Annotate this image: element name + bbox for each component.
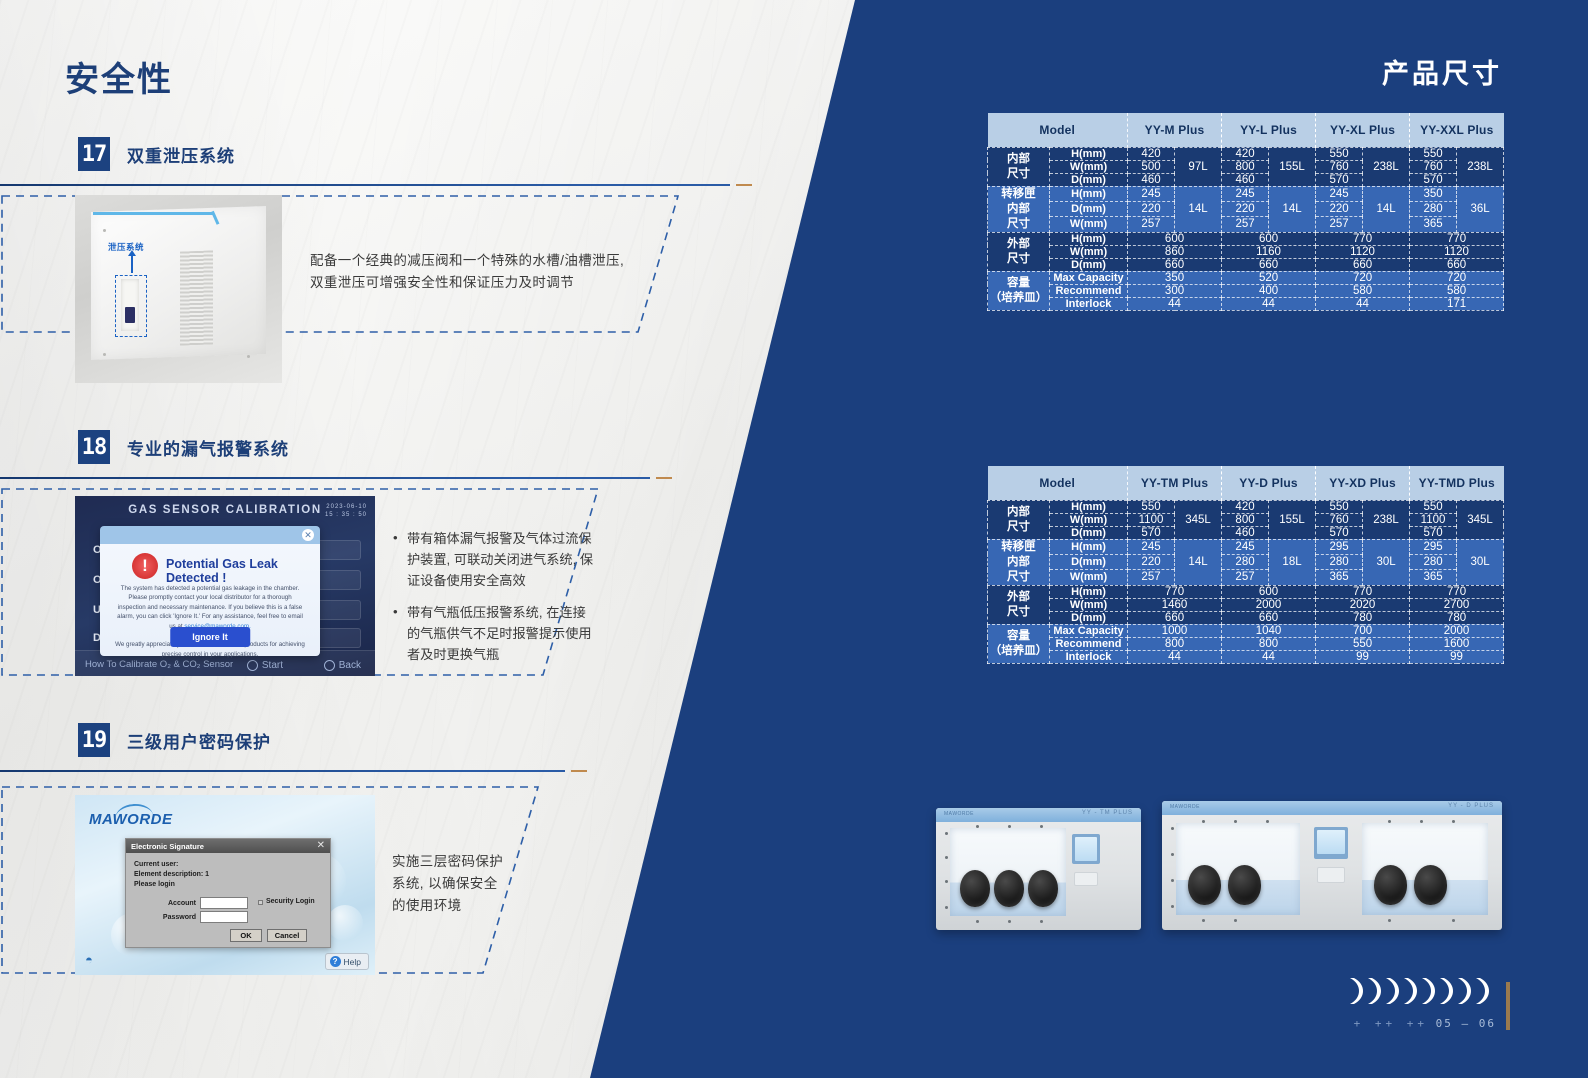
- table-cell-volume: 238L: [1457, 147, 1504, 186]
- screw-icon: [103, 353, 106, 356]
- table-cell-value: 460: [1128, 173, 1175, 186]
- section-18-rule-cap: [656, 477, 672, 479]
- section-17-number: 17: [78, 137, 110, 171]
- screw-icon: [247, 355, 250, 358]
- table-cell-volume: 14L: [1363, 186, 1410, 232]
- table-model-3: YY-XD Plus: [1316, 466, 1410, 500]
- table-cell-value: 600: [1222, 232, 1316, 245]
- table-cell-volume: 345L: [1457, 500, 1504, 539]
- section-17-rule-cap: [736, 184, 752, 186]
- left-column: 安全性 17 双重泄压系统 泄压系统: [0, 0, 860, 1078]
- table-cell-value: 770: [1410, 232, 1504, 245]
- table-cell-value: 220: [1128, 201, 1175, 216]
- section-19-number: 19: [78, 723, 110, 757]
- table-cell-value: 1120: [1316, 245, 1410, 258]
- table-row: 外部尺寸H(mm)600600770770: [988, 232, 1504, 245]
- table-cell-value: 570: [1128, 526, 1175, 539]
- cancel-button[interactable]: Cancel: [267, 929, 307, 942]
- table-cell-value: 280: [1410, 201, 1457, 216]
- table-cell-value: 2020: [1316, 598, 1410, 611]
- section-18-header: 18 专业的漏气报警系统: [0, 430, 860, 476]
- section-19-body-line2: 系统, 以确保安全: [392, 873, 532, 895]
- section-17-body: 配备一个经典的减压阀和一个特殊的水槽/油槽泄压, 双重泄压可增强安全性和保证压力…: [310, 250, 640, 294]
- table-cell-value: 280: [1410, 554, 1457, 569]
- table-sub-label: H(mm): [1050, 500, 1128, 513]
- section-18-bullet-1: 带有箱体漏气报警及气体过流保护装置, 可联动关闭进气系统, 保证设备使用安全高效: [393, 528, 598, 591]
- table-group-label: 转移匣内部尺寸: [988, 539, 1050, 585]
- table-cell-volume: 18L: [1269, 539, 1316, 585]
- table-row: 转移匣内部尺寸H(mm)24514L24518L29530L29530L: [988, 539, 1504, 554]
- gas-sensor-calibration-screen: GAS SENSOR CALIBRATION 2023-06-10 15 : 3…: [75, 496, 375, 676]
- table-cell-value: 660: [1128, 611, 1222, 624]
- table-cell-value: 1100: [1410, 513, 1457, 526]
- table-cell-value: 500: [1128, 160, 1175, 173]
- table-sub-label: D(mm): [1050, 611, 1128, 624]
- section-19-body-line1: 实施三层密码保护: [392, 851, 532, 873]
- table-cell-value: 770: [1316, 585, 1410, 598]
- section-18-rule: [0, 477, 650, 479]
- screen-footer-text: How To Calibrate O₂ & CO₂ Sensor: [85, 659, 233, 670]
- table-cell-volume: 238L: [1363, 500, 1410, 539]
- screen-back-label: Back: [339, 660, 361, 671]
- password-input[interactable]: [200, 911, 248, 923]
- table-cell-volume: 30L: [1363, 539, 1410, 585]
- section-18-bullet-2: 带有气瓶低压报警系统, 在连接的气瓶供气不足时报警提示使用者及时更换气瓶: [393, 602, 598, 665]
- footer-marks: + ++ ++: [1354, 1017, 1428, 1030]
- table-cell-value: 44: [1222, 650, 1316, 663]
- table-cell-value: 350: [1128, 271, 1222, 284]
- table-cell-value: 520: [1222, 271, 1316, 284]
- table-cell-value: 171: [1410, 297, 1504, 310]
- table-sub-label: W(mm): [1050, 513, 1128, 526]
- table-row: D(mm)660660780780: [988, 611, 1504, 624]
- table-cell-volume: 36L: [1457, 186, 1504, 232]
- table-cell-value: 365: [1410, 217, 1457, 232]
- table-model-4: YY-TMD Plus: [1410, 466, 1504, 500]
- table-model-2: YY-L Plus: [1222, 113, 1316, 147]
- product-photo-d-plus: MAWORDE YY - D PLUS: [1162, 801, 1502, 930]
- table-cell-value: 300: [1128, 284, 1222, 297]
- screen-time: 15 : 35 : 50: [325, 511, 367, 519]
- table-cell-value: 760: [1316, 160, 1363, 173]
- table-cell-volume: 155L: [1269, 500, 1316, 539]
- section-17-title: 双重泄压系统: [127, 142, 235, 167]
- table-cell-value: 257: [1222, 570, 1269, 585]
- table-cell-value: 570: [1316, 526, 1363, 539]
- glove-port: [1374, 865, 1407, 905]
- glove-port: [1228, 865, 1261, 905]
- table-model-header: Model: [988, 113, 1128, 147]
- section-18-number: 18: [78, 430, 110, 464]
- table-cell-value: 350: [1410, 186, 1457, 201]
- table-row: W(mm)257257257365: [988, 217, 1504, 232]
- table-group-label: 外部尺寸: [988, 232, 1050, 271]
- table-cell-value: 44: [1128, 650, 1222, 663]
- screen-start-button[interactable]: Start: [247, 660, 283, 671]
- table-cell-value: 245: [1222, 539, 1269, 554]
- table-group-label: 内部尺寸: [988, 500, 1050, 539]
- table-sub-label: W(mm): [1050, 160, 1128, 173]
- table-sub-label: W(mm): [1050, 598, 1128, 611]
- table-cell-value: 365: [1410, 570, 1457, 585]
- table-cell-value: 257: [1316, 217, 1363, 232]
- table-cell-value: 600: [1128, 232, 1222, 245]
- table-cell-value: 660: [1410, 258, 1504, 271]
- glove-port: [1188, 865, 1221, 905]
- table-row: 外部尺寸H(mm)770600770770: [988, 585, 1504, 598]
- table-cell-value: 720: [1410, 271, 1504, 284]
- table-cell-value: 770: [1410, 585, 1504, 598]
- table-sub-label: D(mm): [1050, 201, 1128, 216]
- table-row: W(mm)257257365365: [988, 570, 1504, 585]
- password-label: Password: [156, 914, 196, 921]
- table-cell-value: 2700: [1410, 598, 1504, 611]
- table-cell-value: 400: [1222, 284, 1316, 297]
- table-cell-value: 1160: [1222, 245, 1316, 258]
- table-row: 容量（培养皿）Max Capacity100010407002000: [988, 624, 1504, 637]
- table-cell-value: 365: [1316, 570, 1363, 585]
- screen-date: 2023-06-10: [325, 503, 367, 511]
- table-cell-value: 220: [1128, 554, 1175, 569]
- dialog-current-user: Current user:: [134, 861, 178, 868]
- electronic-signature-screen: MAWORDE ◓ ? Help Electronic Signature ✕ …: [75, 795, 375, 975]
- table-cell-volume: 14L: [1269, 186, 1316, 232]
- table-cell-value: 800: [1222, 513, 1269, 526]
- account-label: Account: [160, 900, 196, 907]
- table-row: Recommend300400580580: [988, 284, 1504, 297]
- table-cell-volume: 14L: [1175, 186, 1222, 232]
- dimensions-table-2: ModelYY-TM PlusYY-D PlusYY-XD PlusYY-TMD…: [987, 466, 1504, 664]
- footer-gold-bar: [1506, 982, 1510, 1030]
- table-cell-value: 2000: [1410, 624, 1504, 637]
- table-cell-value: 760: [1410, 160, 1457, 173]
- help-button[interactable]: ? Help: [325, 953, 369, 970]
- table-cell-value: 580: [1410, 284, 1504, 297]
- glove-port: [960, 870, 990, 907]
- section-19-header: 19 三级用户密码保护: [0, 723, 860, 769]
- relief-valve-slot: [121, 279, 139, 331]
- table-sub-label: D(mm): [1050, 554, 1128, 569]
- section-19-rule: [0, 770, 565, 772]
- table-cell-value: 1000: [1128, 624, 1222, 637]
- photo-annotation-label: 泄压系统: [108, 241, 144, 253]
- transfer-tray: [1074, 872, 1098, 886]
- security-login-checkbox[interactable]: [258, 900, 263, 905]
- transfer-tray: [1317, 867, 1345, 883]
- table-row: 转移匣内部尺寸H(mm)24514L24514L24514L35036L: [988, 186, 1504, 201]
- account-input[interactable]: [200, 897, 248, 909]
- dialog-please-login: Please login: [134, 881, 175, 888]
- page-number: 05 — 06: [1436, 1017, 1496, 1030]
- dialog-title: Electronic Signature: [131, 842, 204, 851]
- section-17-rule: [0, 184, 730, 186]
- warning-icon: !: [132, 553, 158, 579]
- table-sub-label: H(mm): [1050, 186, 1128, 201]
- table-model-header: Model: [988, 466, 1128, 500]
- section-17-body-line1: 配备一个经典的减压阀和一个特殊的水槽/油槽泄压,: [310, 250, 640, 272]
- table-row: D(mm)460460570570: [988, 173, 1504, 186]
- table-sub-label: Recommend: [1050, 284, 1128, 297]
- section-18-bullets: 带有箱体漏气报警及气体过流保护装置, 可联动关闭进气系统, 保证设备使用安全高效…: [393, 528, 598, 676]
- table-cell-value: 720: [1316, 271, 1410, 284]
- brand-logo: MAWORDE: [89, 811, 173, 828]
- section-19: 19 三级用户密码保护 MAWORDE ◓ ? Help: [0, 723, 860, 1003]
- table-cell-value: 780: [1316, 611, 1410, 624]
- table-cell-value: 245: [1316, 186, 1363, 201]
- screen-clock: 2023-06-10 15 : 35 : 50: [325, 503, 367, 519]
- screw-icon: [103, 229, 106, 232]
- page-title: 安全性: [65, 52, 173, 101]
- table-cell-value: 550: [1128, 500, 1175, 513]
- section-19-body: 实施三层密码保护 系统, 以确保安全 的使用环境: [392, 851, 532, 917]
- table-row: 内部尺寸H(mm)42097L420155L550238L550238L: [988, 147, 1504, 160]
- table-cell-value: 550: [1410, 147, 1457, 160]
- help-label: Help: [344, 957, 361, 967]
- table-cell-value: 660: [1222, 258, 1316, 271]
- table-cell-value: 245: [1128, 539, 1175, 554]
- table-cell-value: 580: [1316, 284, 1410, 297]
- table-sub-label: H(mm): [1050, 539, 1128, 554]
- section-18-title: 专业的漏气报警系统: [127, 435, 289, 460]
- table-cell-value: 220: [1316, 201, 1363, 216]
- table-sub-label: Max Capacity: [1050, 271, 1128, 284]
- unit-brand-logo: MAWORDE: [944, 811, 974, 817]
- table-cell-value: 44: [1222, 297, 1316, 310]
- dialog-element-description: Element description: 1: [134, 871, 209, 878]
- table-row: D(mm)220280280280: [988, 554, 1504, 569]
- vent-grille: [180, 250, 213, 345]
- table-cell-value: 660: [1222, 611, 1316, 624]
- table-sub-label: Interlock: [1050, 650, 1128, 663]
- table-cell-value: 700: [1316, 624, 1410, 637]
- table-row: W(mm)1460200020202700: [988, 598, 1504, 611]
- table-row: 内部尺寸H(mm)550345L420155L550238L550345L: [988, 500, 1504, 513]
- table-row: D(mm)220220220280: [988, 201, 1504, 216]
- section-18: 18 专业的漏气报警系统 GAS SENSOR CALIBRATION 2023…: [0, 430, 860, 700]
- glovebox-unit: MAWORDE YY - D PLUS: [1162, 801, 1502, 930]
- table-cell-value: 420: [1222, 147, 1269, 160]
- glove-port: [994, 870, 1024, 907]
- table-sub-label: D(mm): [1050, 173, 1128, 186]
- play-icon: [247, 660, 258, 671]
- table-cell-value: 570: [1316, 173, 1363, 186]
- table-cell-value: 550: [1316, 637, 1410, 650]
- table-cell-value: 800: [1222, 637, 1316, 650]
- table-cell-value: 220: [1222, 201, 1269, 216]
- table-cell-volume: 14L: [1175, 539, 1222, 585]
- table-row: Recommend8008005501600: [988, 637, 1504, 650]
- table-cell-value: 460: [1222, 173, 1269, 186]
- table-row: 容量（培养皿）Max Capacity350520720720: [988, 271, 1504, 284]
- table-sub-label: D(mm): [1050, 526, 1128, 539]
- table-sub-label: W(mm): [1050, 570, 1128, 585]
- section-17-header: 17 双重泄压系统: [0, 137, 860, 183]
- table-cell-value: 99: [1316, 650, 1410, 663]
- modal-title: Potential Gas Leak Detected !: [166, 557, 320, 585]
- pressure-relief-photo: 泄压系统: [75, 195, 282, 383]
- table-cell-value: 460: [1222, 526, 1269, 539]
- table-row: Interlock44449999: [988, 650, 1504, 663]
- table-model-3: YY-XL Plus: [1316, 113, 1410, 147]
- table-cell-volume: 97L: [1175, 147, 1222, 186]
- section-19-rule-cap: [571, 770, 587, 772]
- dimensions-table-1: ModelYY-M PlusYY-L PlusYY-XL PlusYY-XXL …: [987, 113, 1504, 311]
- table-cell-value: 550: [1316, 500, 1363, 513]
- table-cell-value: 99: [1410, 650, 1504, 663]
- table-group-label: 外部尺寸: [988, 585, 1050, 624]
- table-cell-value: 600: [1222, 585, 1316, 598]
- unit-model-label: YY - TM PLUS: [1082, 810, 1133, 816]
- table-cell-value: 660: [1316, 258, 1410, 271]
- table-group-label: 容量（培养皿）: [988, 271, 1050, 310]
- table-cell-value: 570: [1410, 526, 1457, 539]
- table-cell-value: 1100: [1128, 513, 1175, 526]
- section-19-body-line3: 的使用环境: [392, 895, 532, 917]
- relief-valve-chip: [125, 307, 135, 323]
- table-sub-label: H(mm): [1050, 585, 1128, 598]
- table-row: Interlock444444171: [988, 297, 1504, 310]
- back-arrow-icon: [324, 660, 335, 671]
- table-group-label: 容量（培养皿）: [988, 624, 1050, 663]
- glove-port: [1028, 870, 1058, 907]
- table-model-1: YY-M Plus: [1128, 113, 1222, 147]
- table-cell-volume: 30L: [1457, 539, 1504, 585]
- table-sub-label: Recommend: [1050, 637, 1128, 650]
- screen-start-label: Start: [262, 660, 283, 671]
- table-cell-value: 2000: [1222, 598, 1316, 611]
- table-sub-label: W(mm): [1050, 245, 1128, 258]
- table-sub-label: Interlock: [1050, 297, 1128, 310]
- control-touchscreen[interactable]: [1072, 834, 1100, 864]
- ok-button[interactable]: OK: [230, 929, 262, 942]
- table-row: W(mm)11008007601100: [988, 513, 1504, 526]
- dna-helix-icon: [1348, 976, 1498, 1006]
- table-sub-label: W(mm): [1050, 217, 1128, 232]
- table-cell-value: 800: [1128, 637, 1222, 650]
- unit-brand-logo: MAWORDE: [1170, 804, 1200, 810]
- table-cell-value: 550: [1316, 147, 1363, 160]
- table-cell-value: 420: [1128, 147, 1175, 160]
- right-page-title: 产品尺寸: [1382, 52, 1502, 91]
- ignore-it-button[interactable]: Ignore It: [170, 627, 250, 647]
- table-row: D(mm)660660660660: [988, 258, 1504, 271]
- table-cell-value: 257: [1128, 217, 1175, 232]
- table-cell-value: 1460: [1128, 598, 1222, 611]
- table-sub-label: Max Capacity: [1050, 624, 1128, 637]
- glovebox-unit: MAWORDE YY - TM PLUS: [936, 808, 1141, 930]
- table-cell-value: 257: [1222, 217, 1269, 232]
- decorative-bubble: [327, 905, 363, 941]
- table-row: D(mm)570460570570: [988, 526, 1504, 539]
- close-icon[interactable]: ✕: [302, 529, 314, 541]
- table-row: W(mm)860116011201120: [988, 245, 1504, 258]
- control-touchscreen[interactable]: [1314, 827, 1348, 859]
- table-cell-value: 760: [1316, 513, 1363, 526]
- table-cell-value: 280: [1222, 554, 1269, 569]
- dialog-titlebar: Electronic Signature ✕: [126, 839, 330, 853]
- table-cell-value: 44: [1128, 297, 1222, 310]
- table-sub-label: H(mm): [1050, 147, 1128, 160]
- table-cell-value: 257: [1128, 570, 1175, 585]
- table-group-label: 内部尺寸: [988, 147, 1050, 186]
- table-cell-value: 660: [1128, 258, 1222, 271]
- table-model-4: YY-XXL Plus: [1410, 113, 1504, 147]
- glove-port: [1414, 865, 1447, 905]
- table-cell-value: 280: [1316, 554, 1363, 569]
- question-mark-icon: ?: [330, 956, 341, 967]
- table-cell-value: 1040: [1222, 624, 1316, 637]
- table-cell-value: 420: [1222, 500, 1269, 513]
- table-cell-value: 550: [1410, 500, 1457, 513]
- table-cell-value: 780: [1410, 611, 1504, 624]
- screen-back-button[interactable]: Back: [324, 660, 361, 671]
- table-cell-value: 245: [1128, 186, 1175, 201]
- close-icon[interactable]: ✕: [317, 840, 325, 852]
- table-cell-value: 770: [1128, 585, 1222, 598]
- table-cell-volume: 238L: [1363, 147, 1410, 186]
- table-cell-value: 570: [1410, 173, 1457, 186]
- table-cell-value: 770: [1316, 232, 1410, 245]
- table-cell-value: 1600: [1410, 637, 1504, 650]
- table-cell-volume: 155L: [1269, 147, 1316, 186]
- table-sub-label: D(mm): [1050, 258, 1128, 271]
- section-17-body-line2: 双重泄压可增强安全性和保证压力及时调节: [310, 272, 640, 294]
- table-row: W(mm)500800760760: [988, 160, 1504, 173]
- table-group-label: 转移匣内部尺寸: [988, 186, 1050, 232]
- modal-body: The system has detected a potential gas …: [114, 584, 306, 659]
- wifi-icon: ◓: [85, 952, 93, 967]
- table-model-2: YY-D Plus: [1222, 466, 1316, 500]
- table-cell-volume: 345L: [1175, 500, 1222, 539]
- table-cell-value: 245: [1222, 186, 1269, 201]
- gas-leak-modal: ✕ ! Potential Gas Leak Detected ! The sy…: [100, 526, 320, 656]
- table-cell-value: 295: [1410, 539, 1457, 554]
- annotation-arrow-icon: [131, 255, 133, 273]
- table-model-1: YY-TM Plus: [1128, 466, 1222, 500]
- table-sub-label: H(mm): [1050, 232, 1128, 245]
- table-cell-value: 1120: [1410, 245, 1504, 258]
- product-photo-tm-plus: MAWORDE YY - TM PLUS: [936, 808, 1141, 930]
- table-cell-value: 860: [1128, 245, 1222, 258]
- section-17: 17 双重泄压系统 泄压系统: [0, 137, 860, 397]
- table-cell-value: 44: [1316, 297, 1410, 310]
- table-cell-value: 295: [1316, 539, 1363, 554]
- panel-top-edge: [93, 212, 213, 215]
- unit-model-label: YY - D PLUS: [1448, 803, 1494, 809]
- brochure-page: 安全性 17 双重泄压系统 泄压系统: [0, 0, 1588, 1078]
- table-cell-value: 800: [1222, 160, 1269, 173]
- section-19-title: 三级用户密码保护: [127, 728, 271, 753]
- security-login-label: Security Login: [266, 898, 315, 905]
- electronic-signature-dialog: Electronic Signature ✕ Current user: Ele…: [125, 838, 331, 948]
